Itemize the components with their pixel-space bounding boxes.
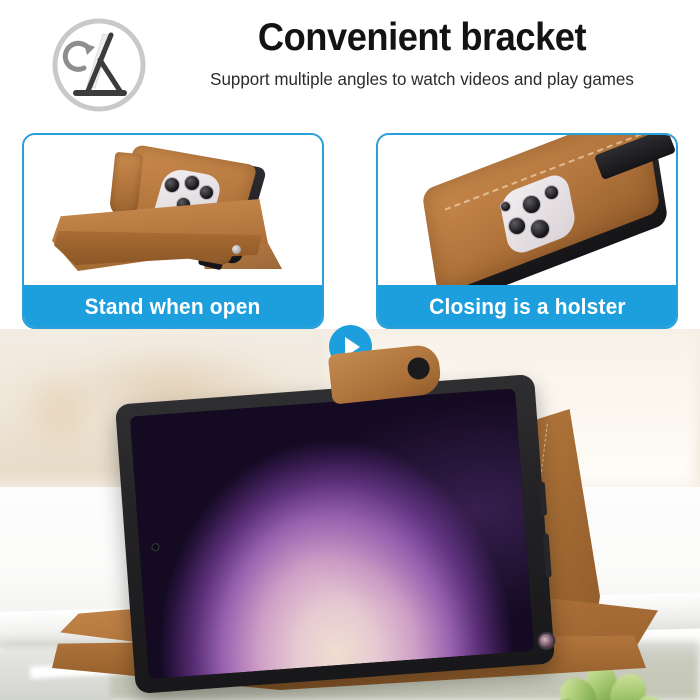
page-title: Convenient bracket [171,16,673,60]
feature-card-closing-is-a-holster[interactable]: Closing is a holster [376,133,678,329]
feature-card-stand-when-open[interactable]: Stand when open [22,133,324,329]
feature-cards-row: Stand when open Closing is a holster [0,133,700,329]
feature-card-label-stand: Stand when open [23,285,323,328]
hero-product-photo [0,329,700,700]
feature-card-label-holster: Closing is a holster [377,285,677,328]
page-subtitle: Support multiple angles to watch videos … [160,67,684,91]
header-banner: Convenient bracket Support multiple angl… [0,0,700,128]
wallpaper-dome-gradient [130,388,534,679]
bracket-rotate-icon [48,14,150,116]
phone-screen [130,388,534,679]
product-photo-closed-holster [378,135,676,290]
product-photo-stand-open [24,135,322,290]
phone-device [115,374,555,694]
